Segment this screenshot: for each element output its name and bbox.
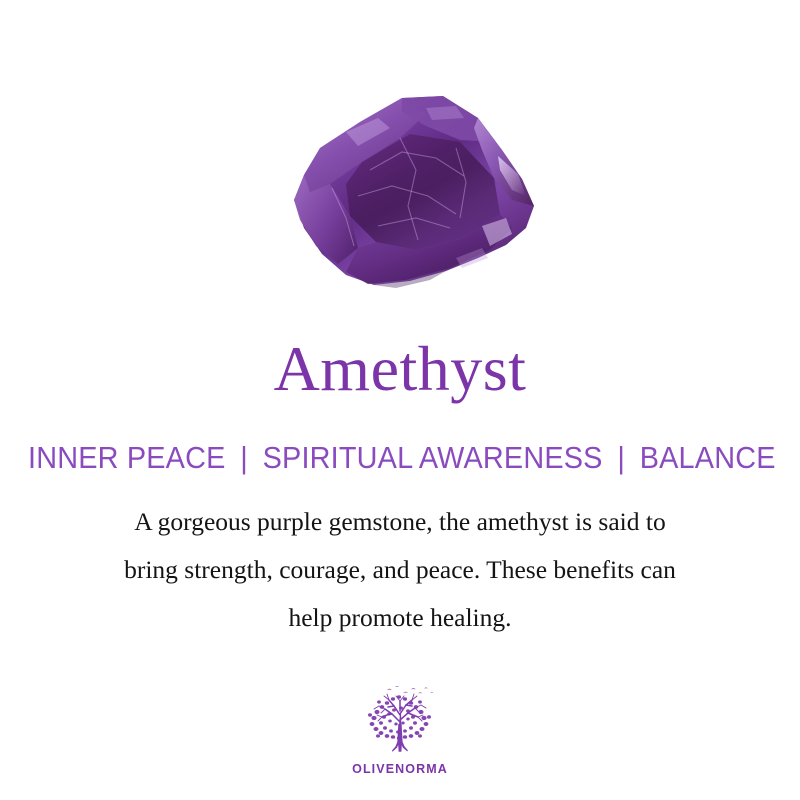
keyword-balance: BALANCE — [640, 440, 776, 475]
keyword-separator: | — [611, 439, 632, 477]
page-title: Amethyst — [0, 334, 800, 404]
amethyst-hero-image — [0, 78, 800, 303]
raw-amethyst-crystal-illustration — [250, 78, 550, 303]
product-info-card: Amethyst INNER PEACE | SPIRITUAL AWARENE… — [0, 0, 800, 800]
keyword-spiritual-awareness: SPIRITUAL AWARENESS — [263, 440, 603, 475]
tree-of-life-icon — [354, 684, 446, 758]
keyword-list: INNER PEACE | SPIRITUAL AWARENESS | BALA… — [28, 439, 772, 477]
description-line: help promote healing. — [50, 594, 750, 642]
brand-logo: OLIVENORMA — [0, 684, 800, 776]
keyword-inner-peace: INNER PEACE — [28, 440, 225, 475]
description-line: bring strength, courage, and peace. Thes… — [50, 546, 750, 594]
birds-icon — [387, 686, 434, 694]
keyword-separator: | — [234, 439, 255, 477]
brand-name: OLIVENORMA — [352, 762, 448, 776]
description-line: A gorgeous purple gemstone, the amethyst… — [50, 498, 750, 546]
description-text: A gorgeous purple gemstone, the amethyst… — [50, 498, 750, 642]
